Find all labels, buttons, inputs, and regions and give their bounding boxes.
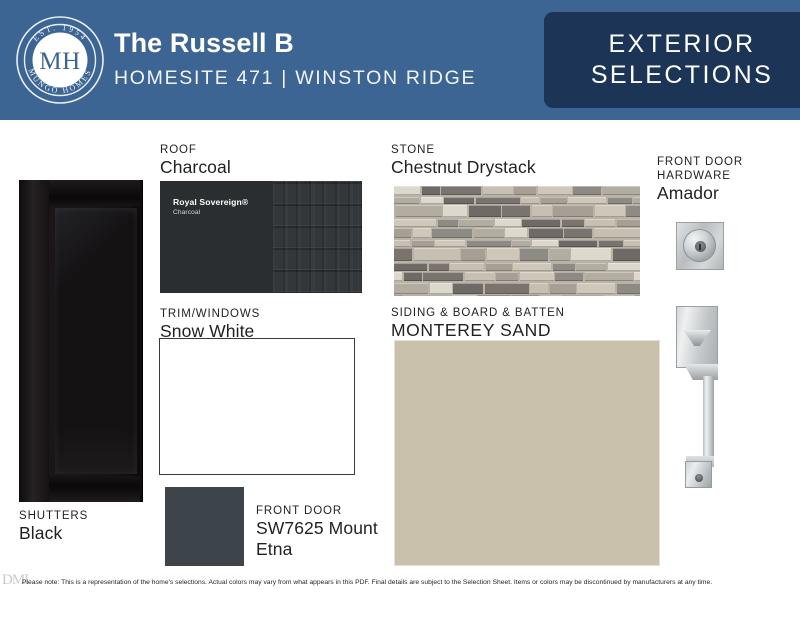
stone-unit xyxy=(394,219,436,227)
stone-unit xyxy=(520,272,554,281)
stone-course xyxy=(394,186,640,195)
header-titles: The Russell B HOMESITE 471 | WINSTON RID… xyxy=(114,26,534,90)
stone-unit xyxy=(530,283,548,294)
stone-unit xyxy=(617,219,641,227)
stone-course xyxy=(394,248,640,261)
stone-unit xyxy=(394,240,410,247)
shutter-bottom-rail xyxy=(49,476,140,502)
stone-course xyxy=(394,283,640,294)
front-door-category: FRONT DOOR xyxy=(256,504,396,518)
stone-unit xyxy=(532,205,552,217)
stone-unit xyxy=(443,205,467,217)
stone-unit xyxy=(571,248,611,261)
stone-unit xyxy=(394,186,420,195)
stone-unit xyxy=(469,205,501,217)
siding-color-swatch xyxy=(395,341,659,565)
page-title: The Russell B xyxy=(114,26,534,60)
stone-unit xyxy=(465,272,495,281)
stone-unit xyxy=(432,228,472,238)
shutters-value: Black xyxy=(19,523,149,544)
stone-unit xyxy=(485,283,529,294)
front-door-hardware-label-group: FRONT DOOR HARDWARE Amador xyxy=(657,155,797,204)
stone-unit xyxy=(522,219,560,227)
shutters-swatch-image xyxy=(19,180,143,502)
stone-unit xyxy=(532,240,558,247)
stone-unit xyxy=(394,263,427,271)
stone-unit xyxy=(559,240,597,247)
stone-value: Chestnut Drystack xyxy=(391,157,651,178)
stone-unit xyxy=(404,272,422,281)
stone-unit xyxy=(576,263,606,271)
stone-unit xyxy=(487,248,519,261)
stone-unit xyxy=(608,263,641,271)
stone-course xyxy=(394,205,640,217)
stone-unit xyxy=(495,219,521,227)
stone-unit xyxy=(550,248,570,261)
stone-category: STONE xyxy=(391,143,651,157)
roof-brand-box: Royal Sovereign® Charcoal xyxy=(160,181,273,293)
stone-unit xyxy=(562,219,584,227)
handleset-bottom-plate xyxy=(685,461,712,488)
shutter-raised-panel xyxy=(55,208,137,474)
stone-course xyxy=(394,228,640,238)
stone-unit xyxy=(452,295,476,296)
stone-course xyxy=(394,197,640,204)
front-door-hardware-value: Amador xyxy=(657,183,797,204)
stone-course xyxy=(394,272,640,281)
roof-label-group: ROOF Charcoal xyxy=(160,143,390,178)
stone-unit xyxy=(513,263,551,271)
exterior-selections-panel: EXTERIOR SELECTIONS xyxy=(544,12,800,108)
stone-unit xyxy=(604,295,634,296)
stone-unit xyxy=(617,283,641,294)
front-door-hardware-category-line1: FRONT DOOR xyxy=(657,155,797,169)
stone-unit xyxy=(541,197,567,204)
stone-unit xyxy=(394,295,403,296)
siding-value: MONTEREY SAND xyxy=(391,320,661,341)
trim-windows-category: TRIM/WINDOWS xyxy=(160,307,390,321)
stone-unit xyxy=(633,197,640,204)
stone-unit xyxy=(394,228,411,238)
roof-brand-color-name: Charcoal xyxy=(173,209,200,216)
stone-unit xyxy=(512,240,530,247)
stone-label-group: STONE Chestnut Drystack xyxy=(391,143,651,178)
shutter-top-rail xyxy=(49,180,140,206)
deadbolt-image xyxy=(676,222,724,270)
roof-swatch-image: Royal Sovereign® Charcoal xyxy=(160,181,362,293)
stone-unit xyxy=(511,295,539,296)
stone-unit xyxy=(521,197,539,204)
front-door-hardware-category-line2: HARDWARE xyxy=(657,169,797,183)
stone-unit xyxy=(461,248,485,261)
stone-unit xyxy=(476,197,520,204)
handleset-thumb-latch xyxy=(683,330,711,346)
siding-label-group: SIDING & BOARD & BATTEN MONTEREY SAND xyxy=(391,306,661,341)
stone-unit xyxy=(441,186,481,195)
shutters-category: SHUTTERS xyxy=(19,509,149,523)
stone-unit xyxy=(573,186,601,195)
stone-unit xyxy=(459,219,493,227)
svg-text:MH: MH xyxy=(39,48,80,75)
stone-unit xyxy=(429,263,449,271)
stone-unit xyxy=(550,283,576,294)
stone-unit xyxy=(555,272,583,281)
stone-unit xyxy=(553,205,593,217)
stone-unit xyxy=(435,240,465,247)
roof-shingle-texture xyxy=(270,181,362,293)
stone-unit xyxy=(394,272,402,281)
stone-course xyxy=(394,263,640,271)
trim-windows-label-group: TRIM/WINDOWS Snow White xyxy=(160,307,390,342)
stone-unit xyxy=(467,240,511,247)
roof-value: Charcoal xyxy=(160,157,390,178)
stone-unit xyxy=(529,228,563,238)
handleset-keyhole-icon xyxy=(695,474,703,482)
stone-unit xyxy=(562,295,602,296)
stone-unit xyxy=(450,263,484,271)
stone-unit xyxy=(405,295,451,296)
stone-unit xyxy=(496,272,518,281)
stone-unit xyxy=(474,228,504,238)
stone-unit xyxy=(453,283,483,294)
stone-unit xyxy=(553,263,575,271)
stone-unit xyxy=(635,295,640,296)
trim-windows-swatch xyxy=(159,338,355,475)
front-door-value: SW7625 Mount Etna xyxy=(256,518,396,560)
stone-unit xyxy=(394,197,419,204)
door-handleset-image xyxy=(676,306,718,488)
stone-course xyxy=(394,240,640,247)
front-door-label-group: FRONT DOOR SW7625 Mount Etna xyxy=(256,504,396,560)
stone-unit xyxy=(568,197,606,204)
stone-unit xyxy=(505,228,527,238)
deadbolt-knob xyxy=(683,229,716,262)
stone-unit xyxy=(502,205,530,217)
stone-unit xyxy=(422,186,440,195)
stone-unit xyxy=(444,197,474,204)
shutter-stile xyxy=(19,180,49,502)
stone-course xyxy=(394,295,640,296)
stone-unit xyxy=(541,295,561,296)
stone-unit xyxy=(414,248,460,261)
stone-unit xyxy=(520,248,548,261)
stone-unit xyxy=(585,219,615,227)
stone-unit xyxy=(394,248,412,261)
stone-unit xyxy=(430,283,452,294)
stone-unit xyxy=(514,186,536,195)
stone-unit xyxy=(486,263,512,271)
stone-unit xyxy=(394,283,428,294)
stone-unit xyxy=(626,205,640,217)
stone-unit xyxy=(594,228,641,238)
roof-brand-name: Royal Sovereign® xyxy=(173,197,248,207)
siding-category: SIDING & BOARD & BATTEN xyxy=(391,306,661,320)
stone-unit xyxy=(599,240,623,247)
stone-unit xyxy=(438,219,458,227)
keyhole-icon xyxy=(695,241,706,252)
roof-category: ROOF xyxy=(160,143,390,157)
stone-unit xyxy=(595,205,625,217)
stone-unit xyxy=(613,248,641,261)
stone-unit xyxy=(624,240,640,247)
stone-unit xyxy=(478,295,510,296)
shutters-label-group: SHUTTERS Black xyxy=(19,509,149,544)
handleset-grip-bar xyxy=(703,376,714,466)
stone-unit xyxy=(412,240,434,247)
stone-unit xyxy=(608,197,632,204)
stone-unit xyxy=(585,272,633,281)
stone-unit xyxy=(396,205,442,217)
page-header: EST. 1954 MUNGO HOMES MH The Russell B H… xyxy=(0,0,800,120)
stone-unit xyxy=(413,228,431,238)
stone-swatch-image xyxy=(394,186,640,296)
front-door-color-swatch xyxy=(165,487,244,566)
stone-unit xyxy=(538,186,572,195)
stone-course xyxy=(394,219,640,227)
stone-unit xyxy=(421,197,443,204)
stone-unit xyxy=(634,272,640,281)
footer-disclaimer: Please note: This is a representation of… xyxy=(22,578,792,587)
stone-unit xyxy=(564,228,592,238)
stone-unit xyxy=(577,283,615,294)
stone-unit xyxy=(423,272,463,281)
homesite-subtitle: HOMESITE 471 | WINSTON RIDGE xyxy=(114,66,534,90)
stone-unit xyxy=(603,186,641,195)
mungo-homes-logo: EST. 1954 MUNGO HOMES MH xyxy=(16,16,104,104)
stone-unit xyxy=(483,186,513,195)
exterior-selections-title: EXTERIOR SELECTIONS xyxy=(591,29,773,91)
handleset-top-escutcheon xyxy=(676,306,718,368)
